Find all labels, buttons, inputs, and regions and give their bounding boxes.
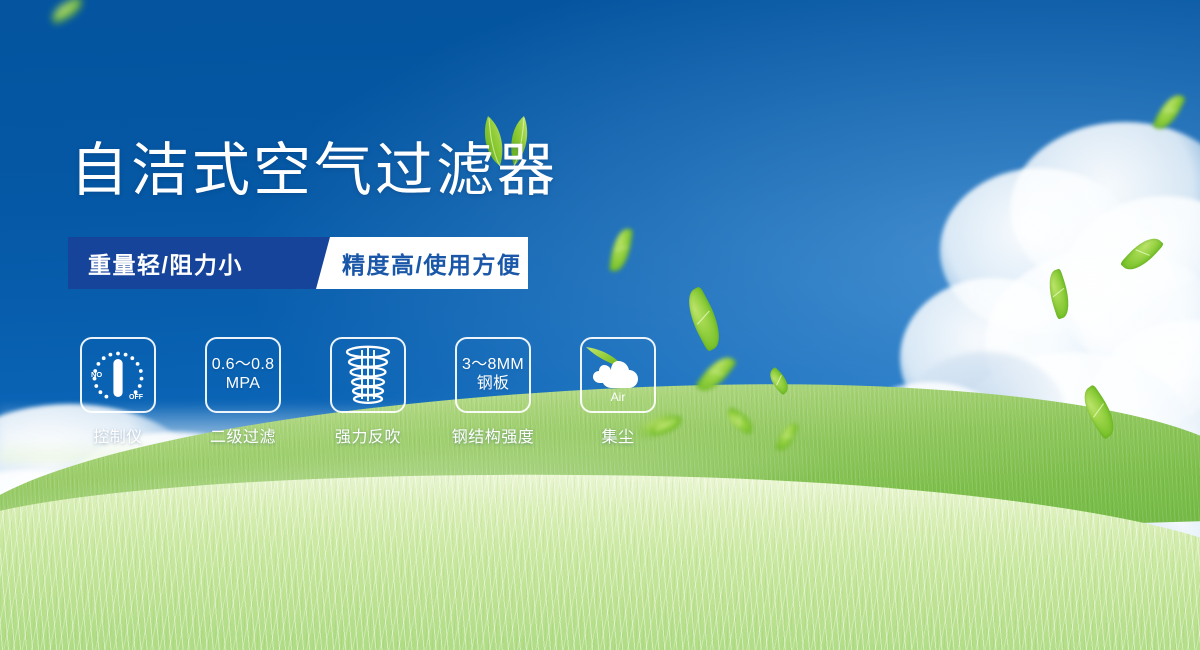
feature-item-dust-collection[interactable]: Air 集尘 [580, 337, 656, 447]
gauge-dial-icon: NO OFF [82, 339, 154, 411]
steel-material: 钢板 [462, 375, 524, 394]
feature-item-controller[interactable]: NO OFF 控制仪 [80, 337, 156, 447]
svg-text:OFF: OFF [129, 394, 144, 401]
svg-text:NO: NO [91, 370, 102, 379]
steel-thickness: 3～8MM [462, 356, 524, 375]
subtitle-right-text: 精度高/使用方便 [342, 246, 521, 280]
feature-label-strong-backblow: 强力反吹 [330, 423, 406, 447]
feature-box-strong-backblow [330, 337, 406, 413]
feature-label-steel-strength: 钢结构强度 [433, 423, 553, 447]
feature-label-dust-collection: 集尘 [580, 423, 656, 447]
pressure-range: 0.6～0.8 [212, 356, 275, 375]
feature-label-controller: 控制仪 [80, 423, 156, 447]
subtitle-left-text: 重量轻/阻力小 [88, 246, 243, 280]
feature-label-two-stage-filter: 二级过滤 [205, 423, 281, 447]
feature-box-controller: NO OFF [80, 337, 156, 413]
feature-item-two-stage-filter[interactable]: 0.6～0.8 MPA 二级过滤 [205, 337, 281, 447]
feature-item-steel-strength[interactable]: 3～8MM 钢板 钢结构强度 [455, 337, 531, 447]
pressure-unit: MPA [212, 375, 275, 394]
page-title: 自洁式空气过滤器 [70, 142, 558, 200]
cloud-air-icon: Air [582, 339, 654, 411]
steel-text-icon: 3～8MM 钢板 [462, 356, 524, 394]
coil-filter-icon [340, 344, 396, 406]
feature-box-steel-strength: 3～8MM 钢板 [455, 337, 531, 413]
subtitle-right-block: 精度高/使用方便 [316, 237, 528, 289]
feature-box-dust-collection: Air [580, 337, 656, 413]
hero-banner: 自洁式空气过滤器 重量轻/阻力小 精度高/使用方便 [0, 0, 1200, 650]
air-label: Air [611, 390, 626, 404]
feature-box-two-stage-filter: 0.6～0.8 MPA [205, 337, 281, 413]
feature-item-strong-backblow[interactable]: 强力反吹 [330, 337, 406, 447]
pressure-text-icon: 0.6～0.8 MPA [212, 356, 275, 394]
subtitle-left-block: 重量轻/阻力小 [68, 237, 336, 289]
